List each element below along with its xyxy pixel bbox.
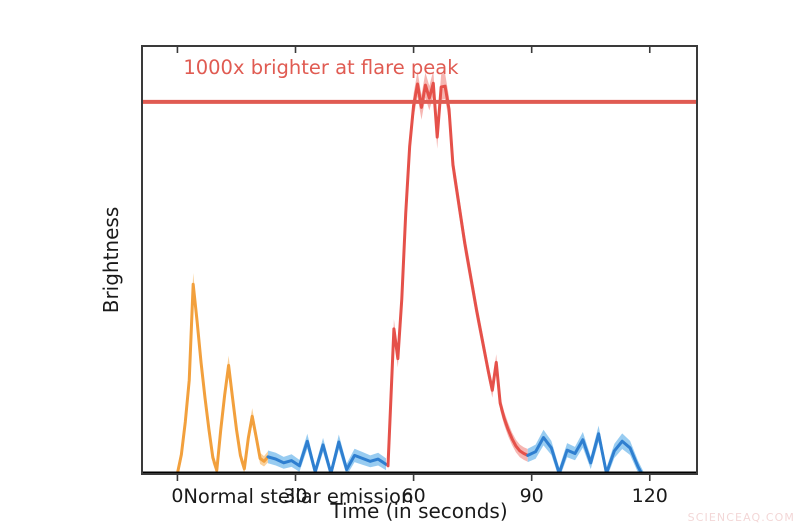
- watermark-label: SCIENCEAQ.COM: [688, 511, 795, 524]
- x-tick-label-0: 0: [171, 485, 183, 507]
- y-axis-label: Brightness: [99, 207, 123, 314]
- x-tick-label-120: 120: [632, 485, 668, 507]
- x-axis-label: Time (in seconds): [329, 499, 507, 523]
- flare-peak-annotation: 1000x brighter at flare peak: [183, 56, 459, 79]
- stellar-flare-lightcurve-chart: 0306090120 1000x brighter at flare peakN…: [0, 0, 800, 530]
- figure-container: 0306090120 1000x brighter at flare peakN…: [0, 0, 800, 530]
- x-tick-label-90: 90: [520, 485, 544, 507]
